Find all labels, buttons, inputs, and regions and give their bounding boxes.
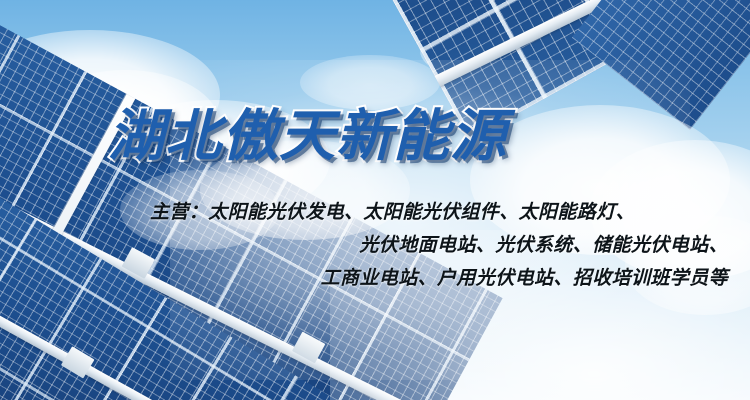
panel-clamp: [292, 332, 325, 364]
panel-support-rail: [417, 0, 750, 95]
solar-panel-corner-top-right: [572, 0, 750, 130]
banner-subtitle: 主营：太阳能光伏发电、太阳能光伏组件、太阳能路灯、 光伏地面电站、光伏系统、储能…: [150, 196, 728, 295]
cloud-decoration: [420, 20, 570, 82]
banner-title: 湖北傲天新能源: [108, 108, 507, 164]
cloud-decoration: [300, 55, 440, 110]
solar-energy-banner: 湖北傲天新能源 主营：太阳能光伏发电、太阳能光伏组件、太阳能路灯、 光伏地面电站…: [0, 0, 750, 400]
solar-panel-surface: [572, 0, 750, 130]
subtitle-line-2: 光伏地面电站、光伏系统、储能光伏电站、: [150, 229, 728, 262]
subtitle-line-3: 工商业电站、户用光伏电站、招收培训班学员等: [150, 262, 728, 295]
panel-clamp: [61, 346, 95, 378]
subtitle-line-1: 主营：太阳能光伏发电、太阳能光伏组件、太阳能路灯、: [150, 196, 728, 229]
